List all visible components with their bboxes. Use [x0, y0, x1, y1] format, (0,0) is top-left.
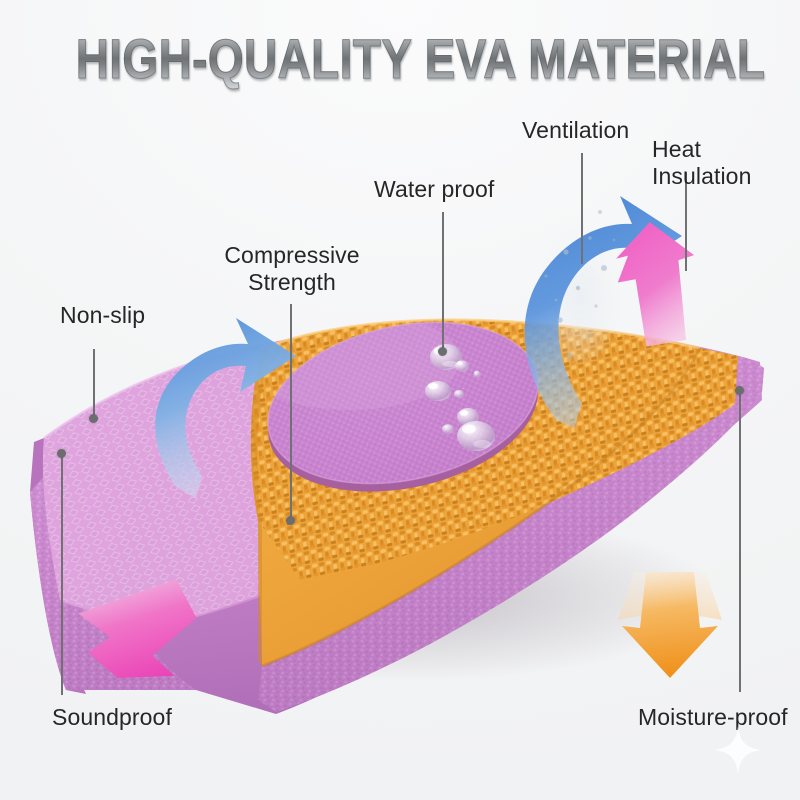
water-droplet: [455, 360, 469, 371]
leader-line-soundproof: [61, 452, 63, 695]
leader-dot-water-proof: [438, 347, 447, 356]
label-water-proof: Water proof: [374, 176, 494, 203]
label-non-slip: Non-slip: [60, 302, 145, 329]
label-moisture-proof: Moisture-proof: [638, 704, 788, 731]
leader-dot-soundproof: [57, 449, 66, 458]
leader-line-water-proof: [442, 212, 444, 350]
water-droplet: [454, 390, 464, 398]
leader-dot-moisture-proof: [735, 386, 744, 395]
leader-line-ventilation: [581, 153, 583, 264]
water-droplet: [457, 421, 495, 451]
label-soundproof: Soundproof: [52, 704, 172, 731]
leader-dot-compressive-strength: [286, 516, 295, 525]
leader-line-non-slip: [93, 349, 95, 417]
leader-dot-non-slip: [89, 414, 98, 423]
eva-insole-illustration: [0, 0, 800, 800]
leader-line-moisture-proof: [739, 390, 741, 692]
infographic-canvas: HIGH-QUALITY EVA MATERIAL: [0, 0, 800, 800]
label-ventilation: Ventilation: [522, 117, 629, 144]
label-heat-insulation: Heat Insulation: [652, 136, 800, 190]
water-droplet: [474, 371, 481, 378]
label-compressive-strength: Compressive Strength: [218, 242, 366, 296]
leader-line-compressive-strength: [290, 304, 292, 520]
water-droplet: [425, 381, 451, 401]
water-droplet: [442, 424, 454, 434]
